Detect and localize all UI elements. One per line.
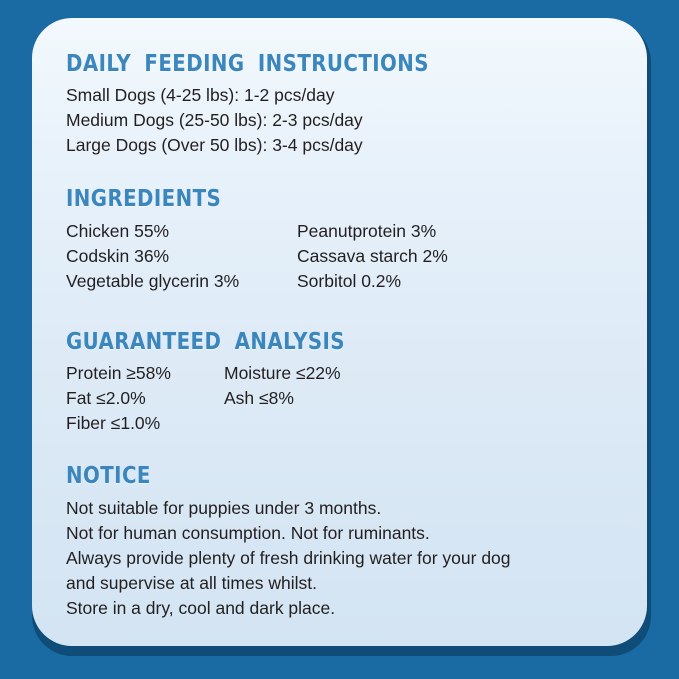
- analysis-moisture: Moisture ≤22%: [224, 361, 341, 386]
- notice-line-puppies: Not suitable for puppies under 3 months.: [66, 496, 613, 521]
- analysis-ash: Ash ≤8%: [224, 386, 294, 411]
- ingredients-heading: INGREDIENTS: [66, 187, 536, 211]
- label-panel: DAILY FEEDING INSTRUCTIONS Small Dogs (4…: [32, 18, 647, 646]
- feeding-line-large: Large Dogs (Over 50 lbs): 3-4 pcs/day: [66, 133, 613, 158]
- notice-line-storage: Store in a dry, cool and dark place.: [66, 596, 613, 621]
- ingredient-peanutprotein: Peanutprotein 3%: [297, 219, 436, 244]
- analysis-protein: Protein ≥58%: [66, 361, 224, 386]
- notice-line-human-consumption: Not for human consumption. Not for rumin…: [66, 521, 613, 546]
- ingredient-codskin: Codskin 36%: [66, 244, 297, 269]
- ingredient-sorbitol: Sorbitol 0.2%: [297, 269, 401, 294]
- notice-line-water-1: Always provide plenty of fresh drinking …: [66, 546, 613, 571]
- analysis-heading: GUARANTEED ANALYSIS: [66, 330, 536, 354]
- analysis-row: Protein ≥58% Moisture ≤22%: [66, 361, 613, 386]
- section-ingredients: INGREDIENTS Chicken 55% Peanutprotein 3%…: [66, 187, 613, 293]
- ingredients-row: Vegetable glycerin 3% Sorbitol 0.2%: [66, 269, 613, 294]
- analysis-row: Fat ≤2.0% Ash ≤8%: [66, 386, 613, 411]
- ingredients-row: Codskin 36% Cassava starch 2%: [66, 244, 613, 269]
- label-frame: DAILY FEEDING INSTRUCTIONS Small Dogs (4…: [0, 0, 679, 679]
- section-guaranteed-analysis: GUARANTEED ANALYSIS Protein ≥58% Moistur…: [66, 330, 613, 436]
- notice-heading: NOTICE: [66, 464, 536, 488]
- section-feeding-instructions: DAILY FEEDING INSTRUCTIONS Small Dogs (4…: [66, 52, 613, 158]
- analysis-fiber: Fiber ≤1.0%: [66, 411, 224, 436]
- notice-line-water-2: and supervise at all times whilst.: [66, 571, 613, 596]
- feeding-heading: DAILY FEEDING INSTRUCTIONS: [66, 52, 536, 76]
- analysis-row: Fiber ≤1.0%: [66, 411, 613, 436]
- ingredient-chicken: Chicken 55%: [66, 219, 297, 244]
- ingredient-cassava-starch: Cassava starch 2%: [297, 244, 448, 269]
- analysis-fat: Fat ≤2.0%: [66, 386, 224, 411]
- feeding-line-small: Small Dogs (4-25 lbs): 1-2 pcs/day: [66, 83, 613, 108]
- ingredients-row: Chicken 55% Peanutprotein 3%: [66, 219, 613, 244]
- ingredient-vegetable-glycerin: Vegetable glycerin 3%: [66, 269, 297, 294]
- feeding-line-medium: Medium Dogs (25-50 lbs): 2-3 pcs/day: [66, 108, 613, 133]
- section-notice: NOTICE Not suitable for puppies under 3 …: [66, 464, 613, 620]
